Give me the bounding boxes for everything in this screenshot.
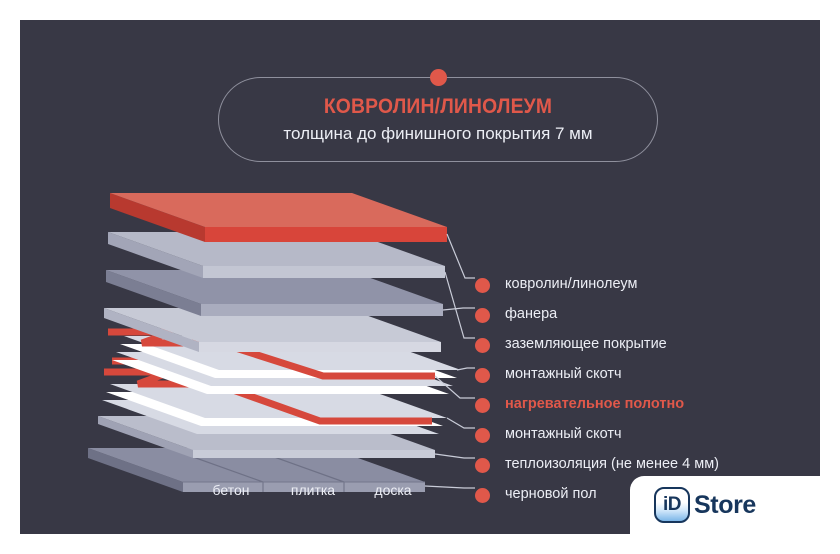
id-badge-icon: iD [654,487,690,523]
legend-label: монтажный скотч [505,421,622,447]
logo-wordmark: Store [694,491,756,520]
page-subtitle: толщина до финишного покрытия 7 мм [218,124,658,144]
legend-dot-icon [475,398,490,413]
base-label-concrete: бетон [196,482,266,498]
legend-item: заземляющее покрытие [475,330,805,360]
legend-item: монтажный скотч [475,360,805,390]
legend-dot-icon [475,368,490,383]
legend-item: фанера [475,300,805,330]
legend-dot-icon [475,278,490,293]
legend-dot-icon [475,428,490,443]
dark-canvas: КОВРОЛИН/ЛИНОЛЕУМ толщина до финишного п… [20,20,820,534]
legend-dot-icon [475,488,490,503]
legend-item-highlighted: нагревательное полотно [475,390,805,420]
legend-label: ковролин/линолеум [505,271,637,297]
legend-label: фанера [505,301,557,327]
legend-list: ковролин/линолеум фанера заземляющее пок… [475,270,805,510]
infographic-root: КОВРОЛИН/ЛИНОЛЕУМ толщина до финишного п… [0,0,840,554]
bullet-dot-icon [430,69,447,86]
legend-label: монтажный скотч [505,361,622,387]
legend-label: заземляющее покрытие [505,331,667,357]
legend-dot-icon [475,338,490,353]
base-label-tile: плитка [278,482,348,498]
page-title: КОВРОЛИН/ЛИНОЛЕУМ [236,95,641,119]
legend-item: монтажный скотч [475,420,805,450]
legend-item: ковролин/линолеум [475,270,805,300]
legend-dot-icon [475,458,490,473]
header-pill [218,77,658,162]
logo-panel: iD Store [630,476,820,534]
base-label-board: доска [358,482,428,498]
legend-label: нагревательное полотно [505,391,684,417]
legend-label: черновой пол [505,481,597,507]
legend-dot-icon [475,308,490,323]
legend-label: теплоизоляция (не менее 4 мм) [505,451,719,477]
